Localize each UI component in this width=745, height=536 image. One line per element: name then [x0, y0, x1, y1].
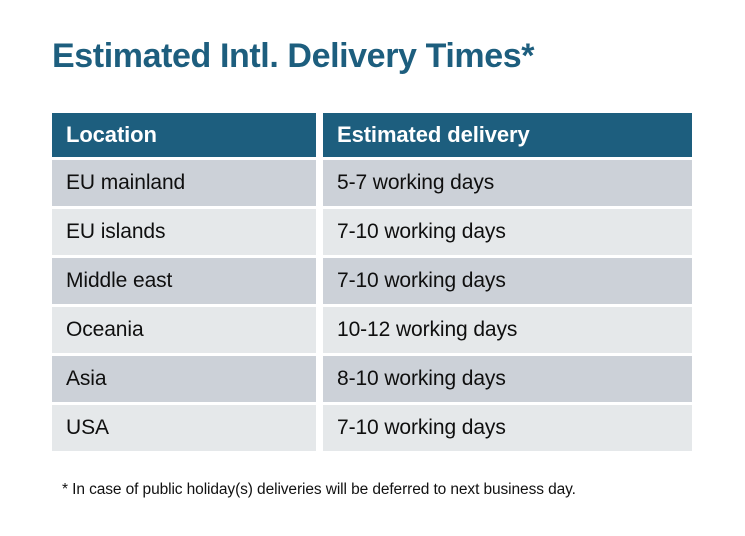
table-row: Oceania 10-12 working days: [52, 307, 692, 353]
column-gap: [316, 405, 323, 451]
column-header-estimated-delivery: Estimated delivery: [323, 113, 692, 157]
cell-estimated-delivery: 10-12 working days: [323, 307, 692, 353]
cell-estimated-delivery: 8-10 working days: [323, 356, 692, 402]
cell-estimated-delivery: 7-10 working days: [323, 405, 692, 451]
table-row: EU mainland 5-7 working days: [52, 160, 692, 206]
cell-estimated-delivery: 7-10 working days: [323, 209, 692, 255]
delivery-times-page: Estimated Intl. Delivery Times* Location…: [0, 0, 745, 536]
cell-location: EU mainland: [52, 160, 316, 206]
cell-location: USA: [52, 405, 316, 451]
column-gap: [316, 356, 323, 402]
table-row: Asia 8-10 working days: [52, 356, 692, 402]
column-gap: [316, 307, 323, 353]
cell-location: EU islands: [52, 209, 316, 255]
column-gap: [316, 113, 323, 157]
cell-location: Oceania: [52, 307, 316, 353]
cell-estimated-delivery: 5-7 working days: [323, 160, 692, 206]
table-row: USA 7-10 working days: [52, 405, 692, 451]
column-header-location: Location: [52, 113, 316, 157]
footnote: * In case of public holiday(s) deliverie…: [62, 481, 576, 499]
cell-estimated-delivery: 7-10 working days: [323, 258, 692, 304]
cell-location: Middle east: [52, 258, 316, 304]
page-title: Estimated Intl. Delivery Times*: [52, 38, 534, 75]
cell-location: Asia: [52, 356, 316, 402]
column-gap: [316, 160, 323, 206]
table-header-row: Location Estimated delivery: [52, 113, 692, 157]
table-row: Middle east 7-10 working days: [52, 258, 692, 304]
column-gap: [316, 258, 323, 304]
delivery-times-table: Location Estimated delivery EU mainland …: [52, 113, 692, 451]
column-gap: [316, 209, 323, 255]
table-row: EU islands 7-10 working days: [52, 209, 692, 255]
